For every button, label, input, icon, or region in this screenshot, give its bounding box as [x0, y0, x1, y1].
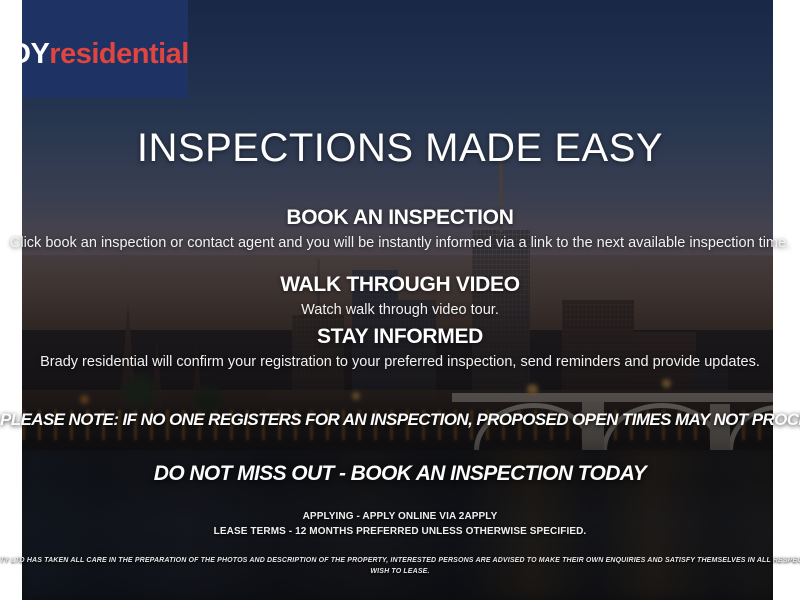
- poster-content: INSPECTIONS MADE EASY BOOK AN INSPECTION…: [0, 0, 800, 600]
- legal-disclaimer: TY LTD HAS TAKEN ALL CARE IN THE PREPARA…: [0, 556, 800, 577]
- fineprint-lease-terms: LEASE TERMS - 12 MONTHS PREFERRED UNLESS…: [0, 525, 800, 540]
- section-body-stay: Brady residential will confirm your regi…: [0, 353, 800, 372]
- fineprint-block: APPLYING - APPLY ONLINE VIA 2APPLY LEASE…: [0, 510, 800, 539]
- section-title-book: BOOK AN INSPECTION: [0, 206, 800, 230]
- inspection-poster: DYresidential INSPECTIONS MADE EASY BOOK…: [0, 0, 800, 600]
- section-title-stay: STAY INFORMED: [0, 325, 800, 349]
- section-title-video: WALK THROUGH VIDEO: [0, 273, 800, 297]
- please-note-banner: PLEASE NOTE: IF NO ONE REGISTERS FOR AN …: [0, 410, 800, 430]
- fineprint-applying: APPLYING - APPLY ONLINE VIA 2APPLY: [0, 510, 800, 525]
- section-book-an-inspection: BOOK AN INSPECTION Click book an inspect…: [0, 206, 800, 253]
- section-body-video: Watch walk through video tour.: [0, 301, 800, 320]
- call-to-action-text: DO NOT MISS OUT - BOOK AN INSPECTION TOD…: [0, 462, 800, 486]
- disclaimer-line-2: WISH TO LEASE.: [0, 567, 800, 578]
- section-walk-through-video: WALK THROUGH VIDEO Watch walk through vi…: [0, 273, 800, 320]
- section-body-book: Click book an inspection or contact agen…: [0, 234, 800, 253]
- section-stay-informed: STAY INFORMED Brady residential will con…: [0, 325, 800, 372]
- page-title: INSPECTIONS MADE EASY: [0, 126, 800, 171]
- disclaimer-line-1: TY LTD HAS TAKEN ALL CARE IN THE PREPARA…: [0, 556, 800, 567]
